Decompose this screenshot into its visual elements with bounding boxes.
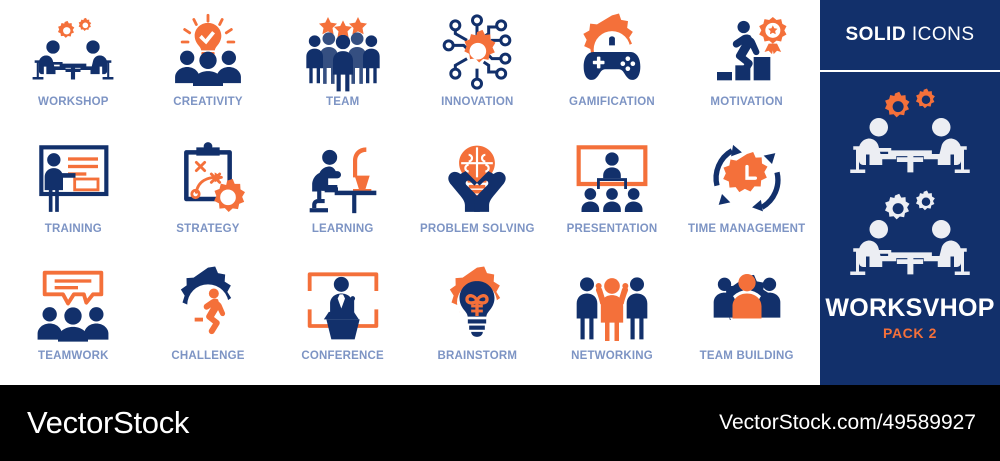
icon-cell-teamwork[interactable]: TEAMWORK	[6, 258, 141, 385]
icon-label: LEARNING	[312, 223, 374, 235]
icon-label: BRAINSTORM	[437, 350, 517, 362]
workshop-meeting-gears-icon-white	[844, 188, 976, 288]
icon-cell-training[interactable]: TRAINING	[6, 131, 141, 258]
icon-cell-team[interactable]: TEAM	[275, 4, 410, 131]
icon-label: WORKSHOP	[38, 96, 109, 108]
icon-label: TEAM	[326, 96, 359, 108]
icon-label: GAMIFICATION	[569, 96, 655, 108]
icon-label: CREATIVITY	[173, 96, 243, 108]
gear-network-nodes-icon	[435, 12, 519, 92]
promo-header: SOLID ICONS	[820, 0, 1000, 72]
clipboard-tactics-gear-icon	[166, 139, 250, 219]
presenter-screen-audience-icon	[570, 139, 654, 219]
icon-cell-workshop[interactable]: WORKSHOP	[6, 4, 141, 131]
icon-cell-presentation[interactable]: PRESENTATION	[545, 131, 680, 258]
icon-label: PRESENTATION	[567, 223, 658, 235]
vectorstock-url: VectorStock.com/49589927	[719, 411, 976, 435]
runner-gear-icon	[166, 266, 250, 346]
icon-label: TIME MANAGEMENT	[688, 223, 805, 235]
workshop-meeting-gears-icon	[31, 12, 115, 92]
icon-label: TEAMWORK	[38, 350, 109, 362]
lightbulb-people-idea-icon	[166, 12, 250, 92]
people-group-stars-icon	[301, 12, 385, 92]
promo-title-light: ICONS	[912, 24, 975, 45]
icon-label: PROBLEM SOLVING	[420, 223, 535, 235]
icon-cell-brainstorm[interactable]: BRAINSTORM	[410, 258, 545, 385]
gamepad-gear-icon	[570, 12, 654, 92]
promo-body: WORKSVHOP PACK 2	[820, 72, 1000, 385]
promo-title-strong: SOLID	[845, 24, 906, 45]
icon-cell-time-management[interactable]: TIME MANAGEMENT	[679, 131, 814, 258]
footer-bar: VectorStock VectorStock.com/49589927	[0, 385, 1000, 461]
vectorstock-logo: VectorStock	[27, 405, 189, 441]
icon-label: TRAINING	[45, 223, 102, 235]
people-gear-circle-icon	[705, 266, 789, 346]
speech-bubble-people-icon	[31, 266, 115, 346]
person-desk-lamp-icon	[301, 139, 385, 219]
icon-label: NETWORKING	[571, 350, 653, 362]
icon-label: TEAM BUILDING	[700, 350, 794, 362]
three-people-raised-arms-icon	[570, 266, 654, 346]
icon-cell-learning[interactable]: LEARNING	[275, 131, 410, 258]
hands-puzzle-bulb-icon	[435, 139, 519, 219]
workshop-meeting-gears-icon-orange	[844, 86, 976, 186]
icon-cell-creativity[interactable]: CREATIVITY	[141, 4, 276, 131]
icon-cell-motivation[interactable]: MOTIVATION	[679, 4, 814, 131]
icon-cell-team-building[interactable]: TEAM BUILDING	[679, 258, 814, 385]
clock-gear-arrows-icon	[705, 139, 789, 219]
icon-label: STRATEGY	[176, 223, 239, 235]
icon-cell-strategy[interactable]: STRATEGY	[141, 131, 276, 258]
icon-cell-challenge[interactable]: CHALLENGE	[141, 258, 276, 385]
promo-pack-name: WORKSVHOP	[825, 296, 994, 321]
trainer-whiteboard-icon	[31, 139, 115, 219]
icon-label: INNOVATION	[441, 96, 514, 108]
icon-grid: WORKSHOP	[0, 0, 820, 385]
bulb-gear-brain-icon	[435, 266, 519, 346]
icon-cell-innovation[interactable]: INNOVATION	[410, 4, 545, 131]
icon-cell-conference[interactable]: CONFERENCE	[275, 258, 410, 385]
icon-label: CHALLENGE	[171, 350, 244, 362]
icon-cell-problem-solving[interactable]: PROBLEM SOLVING	[410, 131, 545, 258]
icon-label: MOTIVATION	[710, 96, 782, 108]
poster-root: WORKSHOP	[0, 0, 1000, 461]
icon-label: CONFERENCE	[301, 350, 384, 362]
icon-cell-networking[interactable]: NETWORKING	[545, 258, 680, 385]
icon-cell-gamification[interactable]: GAMIFICATION	[545, 4, 680, 131]
promo-panel: SOLID ICONS	[820, 0, 1000, 385]
speaker-podium-icon	[301, 266, 385, 346]
promo-title: SOLID ICONS	[845, 24, 974, 46]
person-stairs-award-icon	[705, 12, 789, 92]
promo-pack-number: PACK 2	[883, 326, 937, 340]
